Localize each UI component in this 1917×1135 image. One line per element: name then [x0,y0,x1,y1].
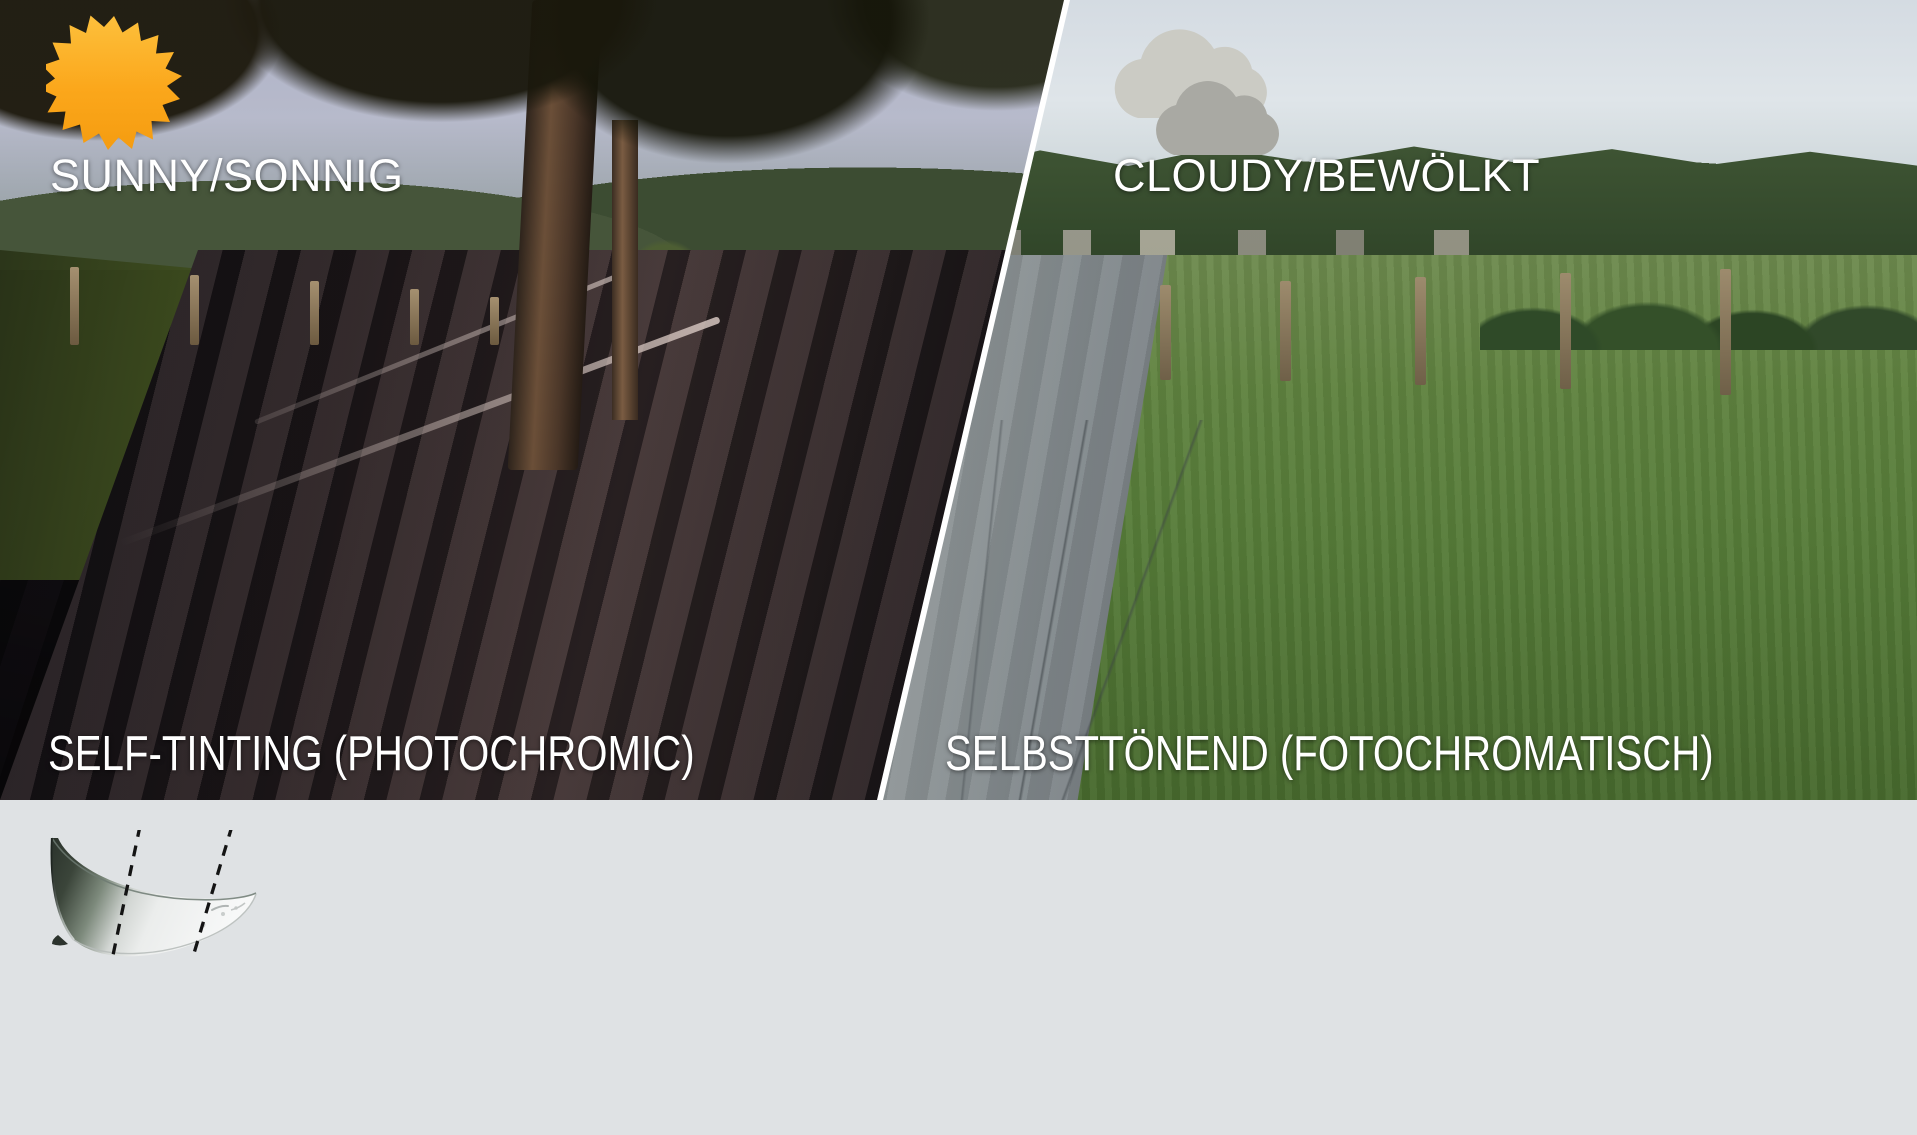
sunny-weather-label: SUNNY/SONNIG [50,150,404,202]
selbsttoenend-label: SELBSTTÖNEND (FOTOCHROMATISCH) [945,726,1714,782]
page-root: SUNNY/SONNIG CLOUDY/BEWÖLKT SELF-TINTING… [0,0,1917,1135]
cloudy-weather-label: CLOUDY/BEWÖLKT [1113,150,1540,202]
cloudy-fence-posts [1160,255,1900,415]
cloud-icon [1090,20,1310,155]
comparison-banner: SUNNY/SONNIG CLOUDY/BEWÖLKT SELF-TINTING… [0,0,1917,800]
visor-illustration [40,830,270,960]
sun-icon [46,14,182,150]
product-panel: CWR-F2 - NXR2 Transitions [0,800,1917,1135]
self-tinting-label: SELF-TINTING (PHOTOCHROMIC) [48,726,695,782]
